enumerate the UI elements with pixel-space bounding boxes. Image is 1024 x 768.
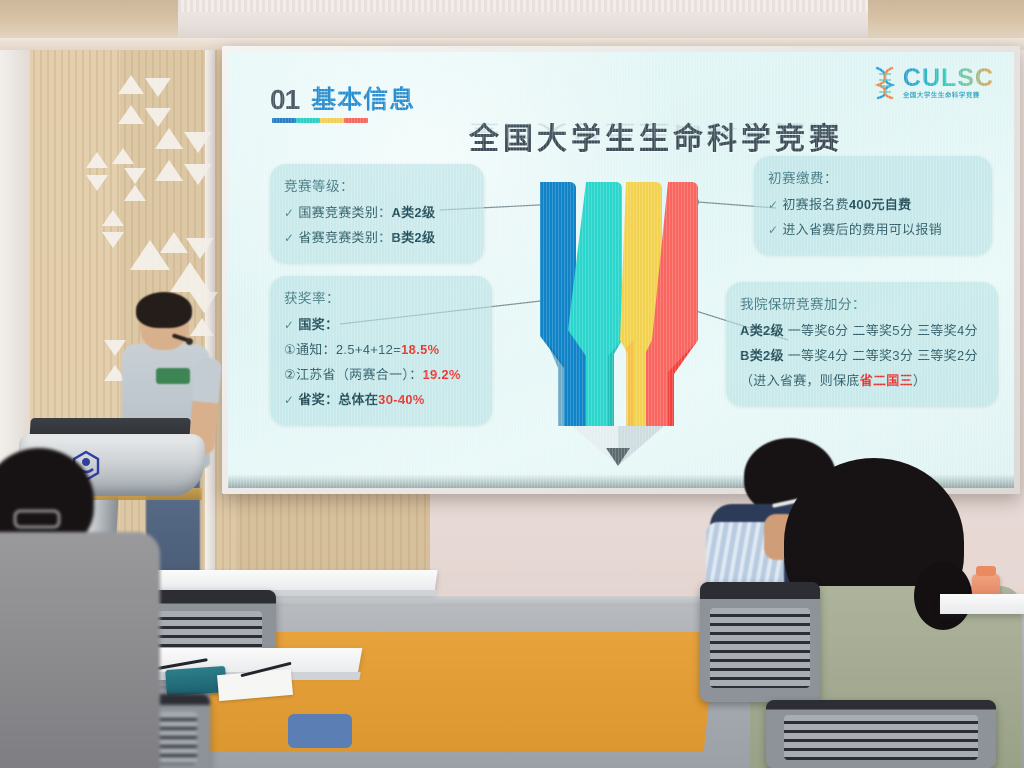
value: 30-40% bbox=[378, 392, 425, 407]
box-heading: 我院保研竞赛加分： bbox=[740, 293, 984, 313]
section-number: 01 bbox=[270, 84, 299, 116]
national-award-label: ✓国奖： bbox=[284, 314, 478, 333]
check-icon: ✓ bbox=[768, 223, 778, 237]
check-icon: ✓ bbox=[768, 198, 778, 212]
award-rate-line-1: ①通知：2.5+4+12=18.5% bbox=[284, 339, 478, 358]
item-label: 国赛竞赛类别： bbox=[298, 205, 391, 220]
slide-section-header: 01 基本信息 bbox=[270, 80, 415, 116]
chair-back-right bbox=[700, 582, 820, 702]
line-prefix: ①通知：2.5+4+12= bbox=[284, 342, 401, 357]
footnote-prefix: （进入省赛，则保底 bbox=[740, 373, 860, 388]
check-icon: ✓ bbox=[284, 318, 294, 332]
line-value: 19.2% bbox=[422, 367, 460, 382]
check-icon: ✓ bbox=[284, 393, 294, 407]
ceiling-soffit bbox=[178, 0, 868, 42]
water-bottle-cap bbox=[976, 566, 996, 576]
award-rate-line-2: ②江苏省（两赛合一）：19.2% bbox=[284, 364, 478, 383]
item-value: B类2级 bbox=[391, 230, 435, 245]
attendee-foreground-left bbox=[0, 448, 156, 768]
logo-subtitle: 全国大学生生命科学竞赛 bbox=[903, 93, 994, 100]
item-label: 进入省赛后的费用可以报销 bbox=[782, 222, 942, 237]
footnote-suffix: ） bbox=[913, 373, 926, 388]
item-label: 初赛报名费 bbox=[782, 197, 849, 212]
slide-main-title-reflection: 全国大学生生命科学竞赛 bbox=[446, 120, 866, 144]
dna-helix-icon bbox=[872, 66, 898, 100]
label: 国奖： bbox=[298, 317, 338, 332]
attendee-shoulders bbox=[0, 532, 160, 768]
box-item: ✓省赛竞赛类别：B类2级 bbox=[284, 227, 470, 246]
line-prefix: ②江苏省（两赛合一）： bbox=[284, 367, 422, 382]
box-item: ✓国赛竞赛类别：A类2级 bbox=[284, 202, 470, 221]
culsc-logo: CULSC 全国大学生生命科学竞赛 bbox=[872, 66, 994, 100]
lecture-room-scene: 01 基本信息 全国大学生生命科学竞赛 全国大学生生命科学竞赛 CULSC bbox=[0, 0, 1024, 768]
chair-seat-cushion bbox=[288, 714, 352, 748]
item-value: A类2级 bbox=[391, 205, 435, 220]
section-underline bbox=[272, 118, 368, 123]
item-label: 省赛竞赛类别： bbox=[298, 230, 391, 245]
presenter-shirt-graphic bbox=[156, 368, 190, 384]
second-prize: 二等奖5分 bbox=[852, 323, 913, 338]
info-box-postgrad-bonus: 我院保研竞赛加分： A类2级 一等奖6分 二等奖5分 三等奖4分 B类2级 一等… bbox=[726, 282, 998, 406]
check-icon: ✓ bbox=[284, 206, 294, 220]
desk-right bbox=[940, 594, 1024, 614]
line-value: 18.5% bbox=[401, 342, 439, 357]
box-item: ✓进入省赛后的费用可以报销 bbox=[768, 219, 978, 238]
presenter-hair bbox=[136, 292, 192, 328]
logo-name: CULSC bbox=[903, 66, 994, 91]
chair-front-right bbox=[766, 700, 996, 768]
box-heading: 初赛缴费： bbox=[768, 167, 978, 187]
info-box-preliminary-fee: 初赛缴费： ✓初赛报名费400元自费 ✓进入省赛后的费用可以报销 bbox=[754, 156, 992, 255]
first-prize: 一等奖6分 bbox=[788, 323, 849, 338]
box-heading: 竞赛等级： bbox=[284, 175, 470, 195]
bonus-row: A类2级 一等奖6分 二等奖5分 三等奖4分 bbox=[740, 320, 984, 339]
check-icon: ✓ bbox=[284, 231, 294, 245]
bonus-row: B类2级 一等奖4分 二等奖3分 三等奖2分 bbox=[740, 345, 984, 364]
section-title: 基本信息 bbox=[311, 80, 415, 116]
item-value: 400元自费 bbox=[849, 197, 912, 212]
third-prize: 三等奖2分 bbox=[917, 348, 978, 363]
provincial-award-line: ✓省奖：总体在30-40% bbox=[284, 389, 478, 408]
grade: B类2级 bbox=[740, 348, 784, 363]
second-prize: 二等奖3分 bbox=[852, 348, 913, 363]
box-heading: 获奖率： bbox=[284, 287, 478, 307]
grade: A类2级 bbox=[740, 323, 784, 338]
four-color-pencil-graphic bbox=[534, 176, 702, 466]
info-box-competition-level: 竞赛等级： ✓国赛竞赛类别：A类2级 ✓省赛竞赛类别：B类2级 bbox=[270, 164, 484, 263]
footnote-highlight: 省二国三 bbox=[860, 373, 913, 388]
label: 省奖：总体在 bbox=[298, 392, 378, 407]
headset-mic-capsule bbox=[186, 338, 193, 345]
attendee-glasses-icon bbox=[14, 510, 60, 528]
first-prize: 一等奖4分 bbox=[788, 348, 849, 363]
projector-screen: 01 基本信息 全国大学生生命科学竞赛 全国大学生生命科学竞赛 CULSC bbox=[228, 52, 1014, 488]
third-prize: 三等奖4分 bbox=[917, 323, 978, 338]
bonus-footnote: （进入省赛，则保底省二国三） bbox=[740, 370, 984, 389]
projector-screen-frame: 01 基本信息 全国大学生生命科学竞赛 全国大学生生命科学竞赛 CULSC bbox=[222, 46, 1020, 494]
info-box-award-rate: 获奖率： ✓国奖： ①通知：2.5+4+12=18.5% ②江苏省（两赛合一）：… bbox=[270, 276, 492, 425]
box-item: ✓初赛报名费400元自费 bbox=[768, 194, 978, 213]
